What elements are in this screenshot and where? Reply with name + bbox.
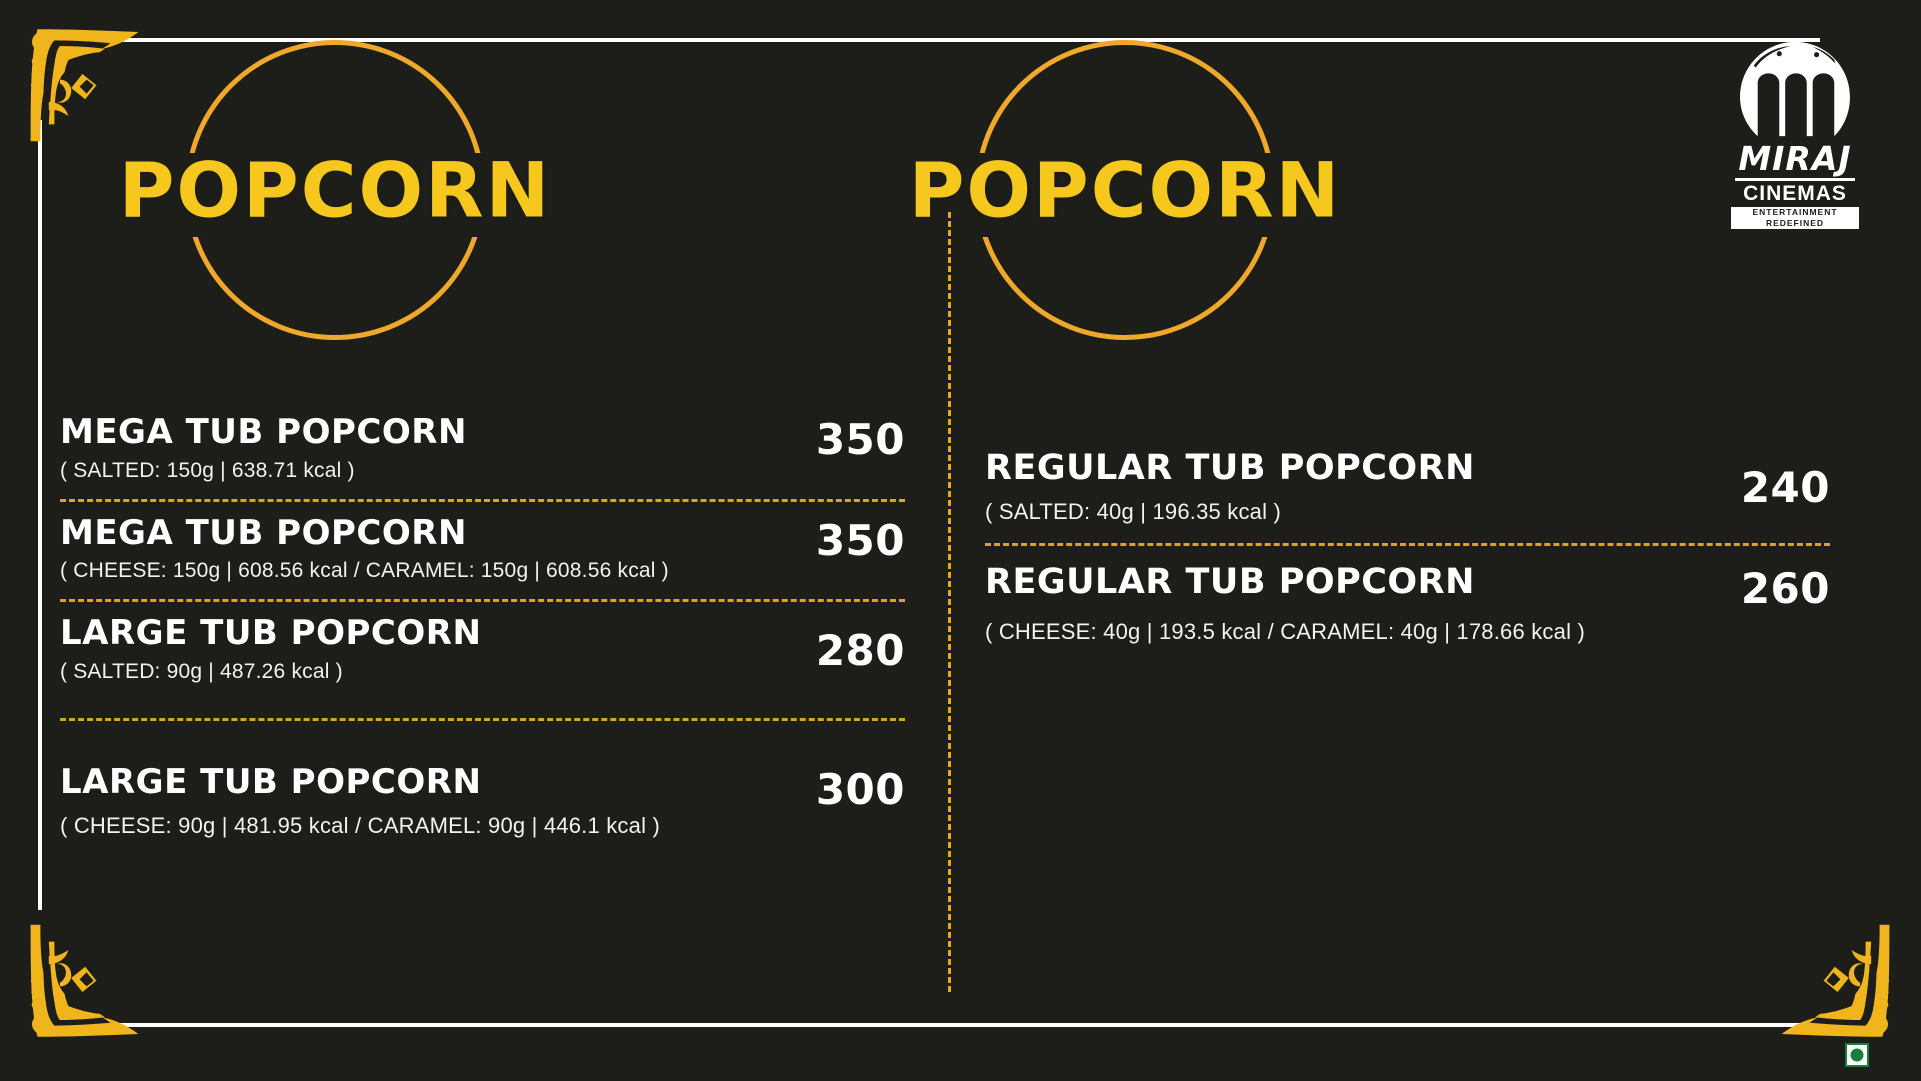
corner-ornament-icon xyxy=(18,908,158,1048)
column-divider xyxy=(948,212,951,992)
menu-item-description: ( SALTED: 40g | 196.35 kcal ) xyxy=(985,499,1706,525)
menu-list-left: MEGA TUB POPCORN ( SALTED: 150g | 638.71… xyxy=(60,415,905,839)
row-separator xyxy=(985,543,1830,546)
section-heading-right: POPCORN xyxy=(975,40,1275,340)
logo-sub-text: CINEMAS xyxy=(1715,183,1875,204)
veg-symbol-icon xyxy=(1845,1043,1869,1067)
menu-item-price: 350 xyxy=(795,415,905,464)
menu-item-name: LARGE TUB POPCORN xyxy=(60,765,781,801)
menu-list-right: REGULAR TUB POPCORN ( SALTED: 40g | 196.… xyxy=(985,450,1830,645)
corner-ornament-icon xyxy=(18,18,158,158)
menu-item-row[interactable]: MEGA TUB POPCORN ( CHEESE: 150g | 608.56… xyxy=(60,516,905,584)
menu-item-row[interactable]: REGULAR TUB POPCORN ( SALTED: 40g | 196.… xyxy=(985,450,1830,525)
menu-item-price: 260 xyxy=(1720,564,1830,613)
menu-item-name: MEGA TUB POPCORN xyxy=(60,415,781,451)
row-separator xyxy=(60,599,905,602)
logo-tagline: ENTERTAINMENT REDEFINED xyxy=(1731,207,1859,229)
row-separator xyxy=(60,499,905,502)
menu-item-row[interactable]: LARGE TUB POPCORN ( SALTED: 90g | 487.26… xyxy=(60,616,905,684)
menu-item-price: 350 xyxy=(795,516,905,565)
menu-item-description: ( SALTED: 150g | 638.71 kcal ) xyxy=(60,459,781,483)
menu-item-description: ( SALTED: 90g | 487.26 kcal ) xyxy=(60,660,781,684)
menu-item-description: ( CHEESE: 40g | 193.5 kcal / CARAMEL: 40… xyxy=(985,619,1706,645)
miraj-cinemas-logo: MIRAJ CINEMAS ENTERTAINMENT REDEFINED xyxy=(1715,38,1875,218)
menu-item-name: REGULAR TUB POPCORN xyxy=(985,564,1706,601)
menu-item-description: ( CHEESE: 150g | 608.56 kcal / CARAMEL: … xyxy=(60,559,781,583)
menu-item-row[interactable]: MEGA TUB POPCORN ( SALTED: 150g | 638.71… xyxy=(60,415,905,483)
corner-ornament-icon xyxy=(1762,908,1902,1048)
miraj-pillars-icon xyxy=(1736,38,1854,146)
frame-line-bottom xyxy=(120,1023,1810,1027)
menu-item-name: MEGA TUB POPCORN xyxy=(60,516,781,552)
frame-line-left xyxy=(38,120,42,910)
logo-brand-text: MIRAJ xyxy=(1715,142,1875,175)
menu-item-name: LARGE TUB POPCORN xyxy=(60,616,781,652)
menu-item-row[interactable]: LARGE TUB POPCORN ( CHEESE: 90g | 481.95… xyxy=(60,765,905,839)
section-heading-left: POPCORN xyxy=(185,40,485,340)
menu-item-description: ( CHEESE: 90g | 481.95 kcal / CARAMEL: 9… xyxy=(60,813,781,839)
menu-item-row[interactable]: REGULAR TUB POPCORN ( CHEESE: 40g | 193.… xyxy=(985,564,1830,645)
logo-divider xyxy=(1735,178,1855,181)
menu-item-price: 240 xyxy=(1720,463,1830,512)
menu-item-name: REGULAR TUB POPCORN xyxy=(985,450,1706,487)
menu-board: POPCORN POPCORN MEGA TUB POPCORN ( SALTE… xyxy=(0,0,1921,1081)
row-separator xyxy=(60,718,905,721)
menu-item-price: 280 xyxy=(795,626,905,675)
menu-item-price: 300 xyxy=(795,765,905,814)
section-heading-text: POPCORN xyxy=(909,146,1342,235)
section-heading-text: POPCORN xyxy=(119,146,552,235)
veg-symbol-dot xyxy=(1851,1049,1864,1062)
